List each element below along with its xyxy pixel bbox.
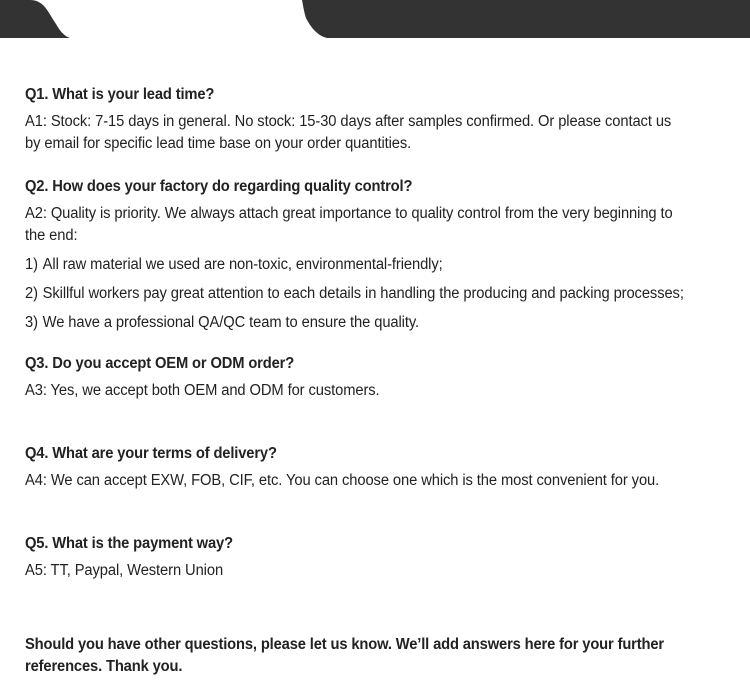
list-text: All raw material we used are non-toxic, … — [43, 256, 443, 273]
faq-item-4: Q4. What are your terms of delivery? A4:… — [25, 444, 722, 492]
faq-question-3: Q3. Do you accept OEM or ODM order? — [25, 354, 687, 375]
faq-question-5: Q5. What is the payment way? — [25, 534, 687, 555]
faq-answer-5: A5: TT, Paypal, Western Union — [25, 560, 690, 582]
faq-list-item-3: 3)We have a professional QA/QC team to e… — [25, 312, 724, 334]
faq-list-item-1: 1)All raw material we used are non-toxic… — [25, 254, 724, 276]
faq-item-3: Q3. Do you accept OEM or ODM order? A3: … — [25, 354, 722, 402]
left-angled-tab-icon — [0, 0, 70, 38]
faq-question-2: Q2. How does your factory do regarding q… — [25, 177, 687, 198]
faq-footer-note: Should you have other questions, please … — [25, 634, 724, 679]
right-angled-banner-icon — [302, 0, 750, 38]
list-text: Skillful workers pay great attention to … — [43, 285, 684, 302]
faq-list-item-2: 2)Skillful workers pay great attention t… — [25, 283, 724, 305]
faq-answer-2: A2: Quality is priority. We always attac… — [25, 203, 690, 247]
faq-item-1: Q1. What is your lead time? A1: Stock: 7… — [25, 40, 722, 155]
faq-item-2: Q2. How does your factory do regarding q… — [25, 177, 722, 334]
faq-answer-4: A4: We can accept EXW, FOB, CIF, etc. Yo… — [25, 470, 690, 492]
list-text: We have a professional QA/QC team to ens… — [43, 314, 419, 331]
faq-question-1: Q1. What is your lead time? — [25, 85, 687, 106]
faq-question-4: Q4. What are your terms of delivery? — [25, 444, 687, 465]
header-decoration — [0, 0, 750, 40]
faq-answer-3: A3: Yes, we accept both OEM and ODM for … — [25, 380, 690, 402]
faq-content: Q1. What is your lead time? A1: Stock: 7… — [0, 40, 750, 679]
list-marker: 3) — [25, 314, 38, 331]
list-marker: 1) — [25, 256, 38, 273]
faq-item-5: Q5. What is the payment way? A5: TT, Pay… — [25, 534, 722, 582]
list-marker: 2) — [25, 285, 38, 302]
faq-answer-1: A1: Stock: 7-15 days in general. No stoc… — [25, 111, 690, 155]
